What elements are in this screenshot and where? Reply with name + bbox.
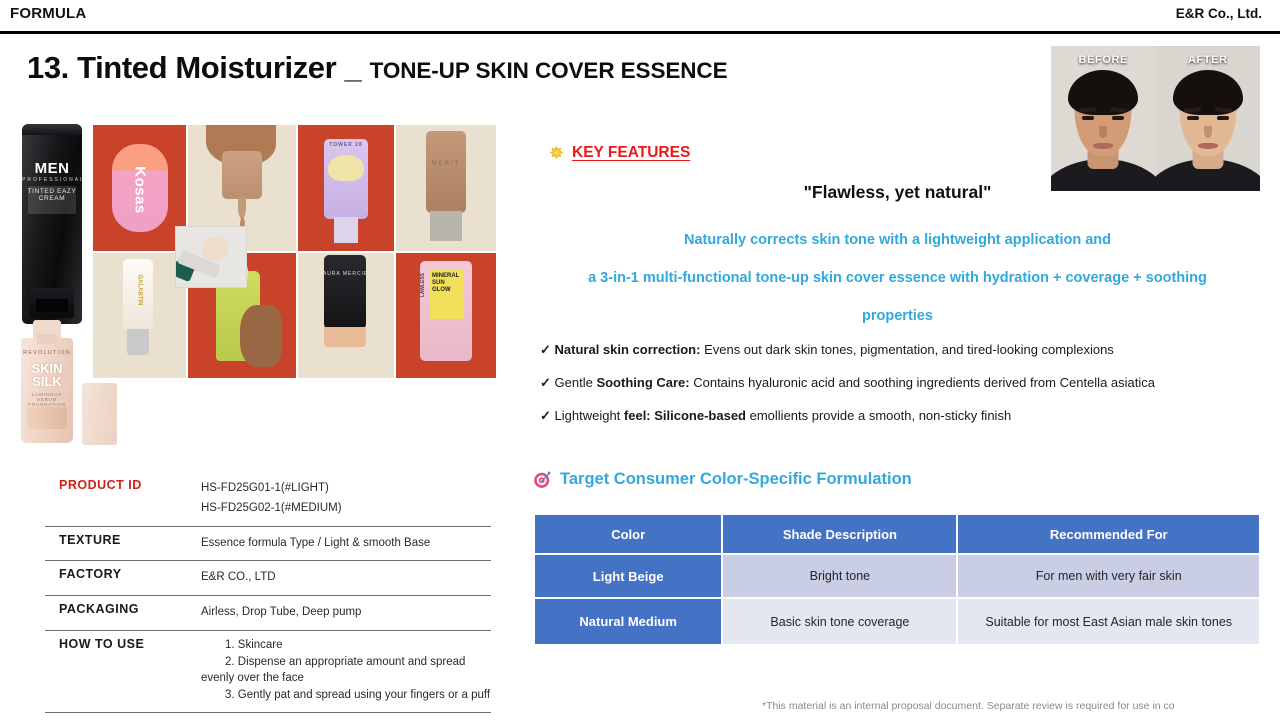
pump-brand: REVOLUTION <box>21 350 73 356</box>
spec-value-texture: Essence formula Type / Light & smooth Ba… <box>197 527 491 561</box>
footnote: *This material is an internal proposal d… <box>762 700 1280 712</box>
after-label: AFTER <box>1188 54 1228 66</box>
table-row: FACTORY E&R CO., LTD <box>45 561 491 596</box>
spec-key-how-to-use: HOW TO USE <box>45 631 197 712</box>
spec-value-product-id: HS-FD25G01-1(#LIGHT) HS-FD25G02-1(#MEDIU… <box>197 472 491 526</box>
spec-value-how-to-use: 1. Skincare 2. Dispense an appropriate a… <box>197 631 491 712</box>
spec-key-texture: TEXTURE <box>45 527 197 561</box>
page-title: 13. Tinted Moisturizer _ TONE-UP SKIN CO… <box>27 50 727 86</box>
after-photo-half: AFTER <box>1156 46 1261 191</box>
spec-key-product-id: PRODUCT ID <box>45 472 197 526</box>
header-divider <box>0 31 1280 34</box>
section-label: FORMULA <box>10 5 86 22</box>
table-row: HOW TO USE 1. Skincare 2. Dispense an ap… <box>45 631 491 713</box>
pod-brand: Kosas <box>131 166 148 214</box>
product-photo-skin-silk: REVOLUTION SKIN SILK LUMINOUS SERUM FOUN… <box>21 338 73 443</box>
before-label: BEFORE <box>1079 54 1128 66</box>
spec-value-factory: E&R CO., LTD <box>197 561 491 595</box>
pump-subtitle: LUMINOUS SERUM FOUNDATION <box>21 392 73 407</box>
cell-shade-natural-medium: Basic skin tone coverage <box>723 599 956 644</box>
list-item: ✓ Natural skin correction: Evens out dar… <box>540 333 1280 366</box>
collage-cell-mineral-sun: MINERAL SUN GLOW LAWLESS <box>396 253 496 378</box>
hero-tube-label: TINTED EAZY CREAM <box>22 188 82 202</box>
check-icon: ✓ <box>540 375 555 390</box>
spec-key-packaging: PACKAGING <box>45 596 197 630</box>
pump-name: SKIN SILK <box>21 362 73 388</box>
table-row: PACKAGING Airless, Drop Tube, Deep pump <box>45 596 491 631</box>
target-consumer-table: Color Shade Description Recommended For … <box>533 513 1261 646</box>
lead-line: properties <box>530 297 1265 335</box>
target-icon <box>533 470 552 489</box>
table-row: Natural Medium Basic skin tone coverage … <box>535 599 1259 644</box>
collage-cell-galabtin: GALABTIN <box>93 253 186 378</box>
check-icon: ✓ <box>540 342 555 357</box>
hero-tube-brand: MEN PROFESSIONAL <box>22 160 82 183</box>
cell-shade-light-beige: Bright tone <box>723 555 956 597</box>
product-photo-cap <box>82 383 117 445</box>
target-section-heading: Target Consumer Color-Specific Formulati… <box>533 470 912 489</box>
sparkle-icon <box>548 145 565 162</box>
lead-line: Naturally corrects skin tone with a ligh… <box>530 221 1265 259</box>
key-features-label: KEY FEATURES <box>572 144 690 162</box>
merit-brand: MERIT <box>396 161 496 167</box>
collage-inset-swatch <box>175 226 247 288</box>
collage-cell-kosas: Kosas <box>93 125 186 251</box>
cell-color-light-beige: Light Beige <box>535 555 721 597</box>
collage-cell-merit: MERIT <box>396 125 496 251</box>
table-row: PRODUCT ID HS-FD25G01-1(#LIGHT) HS-FD25G… <box>45 472 491 527</box>
column-header-recommended: Recommended For <box>958 515 1259 553</box>
table-row: Light Beige Bright tone For men with ver… <box>535 555 1259 597</box>
lead-line: a 3-in-1 multi-functional tone-up skin c… <box>530 259 1265 297</box>
spec-value-packaging: Airless, Drop Tube, Deep pump <box>197 596 491 630</box>
target-section-label: Target Consumer Color-Specific Formulati… <box>560 470 912 489</box>
collage-cell-laura: LAURA MERCIER <box>298 253 394 378</box>
slide-canvas: FORMULA E&R Co., Ltd. 13. Tinted Moistur… <box>0 0 1280 720</box>
page-title-main: 13. Tinted Moisturizer _ <box>27 50 370 85</box>
before-after-photo: BEFORE AFTER <box>1051 46 1260 191</box>
before-photo-half: BEFORE <box>1051 46 1156 191</box>
key-features-bullets: ✓ Natural skin correction: Evens out dar… <box>540 333 1280 432</box>
mineral-sun-label: MINERAL SUN GLOW <box>432 273 462 294</box>
key-features-heading: KEY FEATURES <box>548 144 690 162</box>
column-header-shade: Shade Description <box>723 515 956 553</box>
page-title-sub: TONE-UP SKIN COVER ESSENCE <box>370 58 728 83</box>
cell-recommended-natural-medium: Suitable for most East Asian male skin t… <box>958 599 1259 644</box>
key-features-quote: "Flawless, yet natural" <box>530 182 1265 203</box>
cell-recommended-light-beige: For men with very fair skin <box>958 555 1259 597</box>
product-photo-men-tube: MEN PROFESSIONAL TINTED EAZY CREAM <box>22 124 82 324</box>
table-header-row: Color Shade Description Recommended For <box>535 515 1259 553</box>
list-item: ✓ Gentle Soothing Care: Contains hyaluro… <box>540 366 1280 399</box>
company-name: E&R Co., Ltd. <box>1176 6 1262 21</box>
product-spec-table: PRODUCT ID HS-FD25G01-1(#LIGHT) HS-FD25G… <box>45 472 491 713</box>
cell-color-natural-medium: Natural Medium <box>535 599 721 644</box>
check-icon: ✓ <box>540 408 555 423</box>
list-item: ✓ Lightweight feel: Silicone-based emoll… <box>540 399 1280 432</box>
spec-key-factory: FACTORY <box>45 561 197 595</box>
tower28-brand: TOWER 28 <box>298 142 394 148</box>
key-features-lead: Naturally corrects skin tone with a ligh… <box>530 221 1265 335</box>
table-row: TEXTURE Essence formula Type / Light & s… <box>45 527 491 562</box>
column-header-color: Color <box>535 515 721 553</box>
collage-cell-tower28: TOWER 28 <box>298 125 394 251</box>
product-collage: Kosas TOWER 28 MERIT GALABTIN <box>93 125 496 378</box>
